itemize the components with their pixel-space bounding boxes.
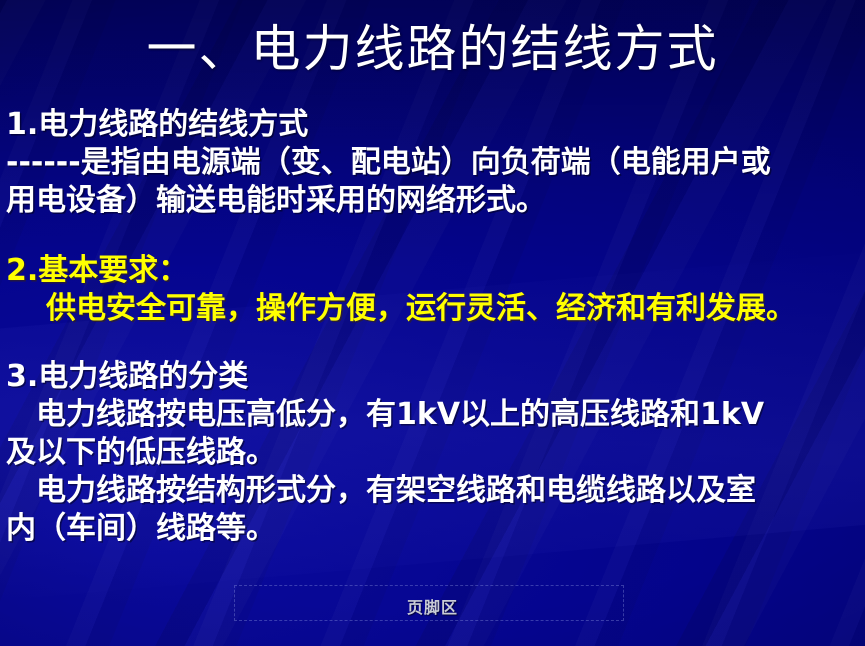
section-3-line-2: 及以下的低压线路。 bbox=[6, 434, 861, 472]
section-1-heading: 1.电力线路的结线方式 bbox=[6, 106, 861, 144]
section-3-heading: 3.电力线路的分类 bbox=[6, 358, 861, 396]
footer-text[interactable]: 页脚区 bbox=[0, 594, 865, 618]
section-3-line-3: 电力线路按结构形式分，有架空线路和电缆线路以及室 bbox=[6, 472, 861, 510]
section-3: 3.电力线路的分类 电力线路按电压高低分，有1kV以上的高压线路和1kV 及以下… bbox=[6, 358, 861, 548]
slide-title: 一、电力线路的结线方式 bbox=[0, 18, 865, 80]
slide-content: 一、电力线路的结线方式 1.电力线路的结线方式 ------是指由电源端（变、配… bbox=[0, 0, 865, 646]
section-2-line-1: 供电安全可靠，操作方便，运行灵活、经济和有利发展。 bbox=[6, 290, 861, 328]
section-1-line-1: ------是指由电源端（变、配电站）向负荷端（电能用户或 bbox=[6, 144, 861, 182]
section-1: 1.电力线路的结线方式 ------是指由电源端（变、配电站）向负荷端（电能用户… bbox=[6, 106, 861, 220]
section-3-line-1: 电力线路按电压高低分，有1kV以上的高压线路和1kV bbox=[6, 396, 861, 434]
slide-canvas: 一、电力线路的结线方式 1.电力线路的结线方式 ------是指由电源端（变、配… bbox=[0, 0, 865, 646]
section-1-line-2: 用电设备）输送电能时采用的网络形式。 bbox=[6, 182, 861, 220]
section-3-line-4: 内（车间）线路等。 bbox=[6, 510, 861, 548]
section-2-heading: 2.基本要求： bbox=[6, 252, 861, 290]
section-2: 2.基本要求： 供电安全可靠，操作方便，运行灵活、经济和有利发展。 bbox=[6, 252, 861, 328]
